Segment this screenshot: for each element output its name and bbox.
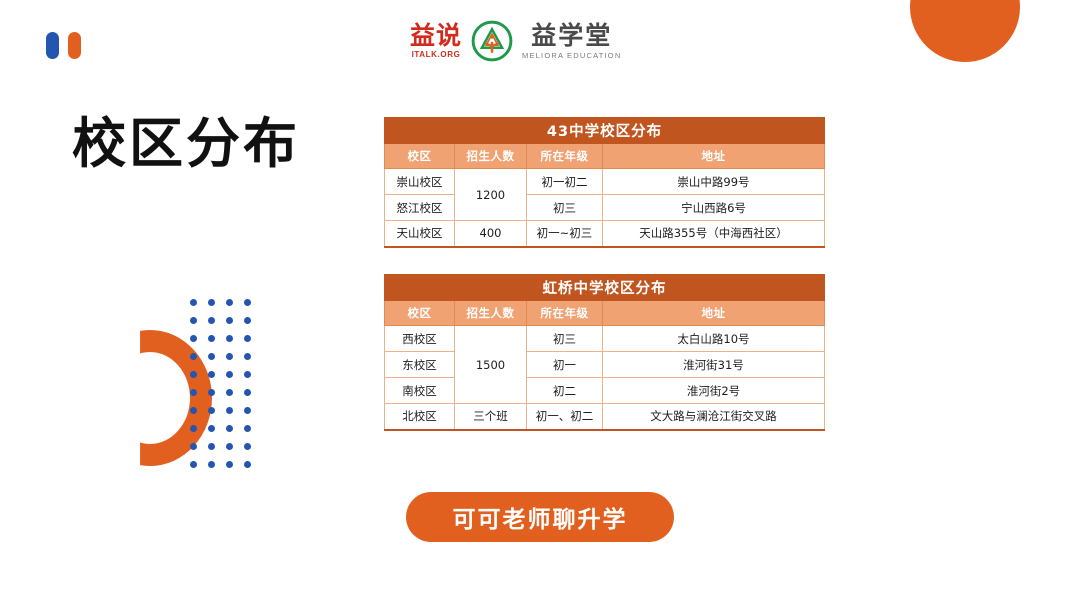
grid-dot — [244, 317, 251, 324]
grid-dot — [208, 299, 215, 306]
cell-campus: 天山校区 — [385, 221, 455, 247]
grid-dot — [208, 371, 215, 378]
grid-dot — [208, 353, 215, 360]
table-row: 天山校区400初一~初三天山路355号（中海西社区） — [385, 221, 825, 247]
column-header-address: 地址 — [603, 301, 825, 326]
meliora-logo-cn: 益学堂 — [531, 23, 612, 48]
meliora-logo-en: MELIORA EDUCATION — [522, 52, 621, 60]
table-title-row: 43中学校区分布 — [385, 118, 825, 144]
grid-dot — [226, 443, 233, 450]
cell-grade: 初一、初二 — [527, 404, 603, 430]
grid-dot — [208, 425, 215, 432]
table-row: 西校区1500初三太白山路10号 — [385, 326, 825, 352]
cell-campus: 西校区 — [385, 326, 455, 352]
grid-dot — [208, 443, 215, 450]
campus-table-2: 虹桥中学校区分布 校区 招生人数 所在年级 地址 西校区1500初三太白山路10… — [384, 274, 825, 431]
grid-dot — [226, 425, 233, 432]
grid-dot — [226, 371, 233, 378]
grid-dot — [208, 461, 215, 468]
cell-address: 天山路355号（中海西社区） — [603, 221, 825, 247]
grid-dot — [208, 317, 215, 324]
cell-grade: 初三 — [527, 195, 603, 221]
cell-address: 文大路与澜沧江街交叉路 — [603, 404, 825, 430]
table-row: 崇山校区1200初一初二崇山中路99号 — [385, 169, 825, 195]
column-header-grade: 所在年级 — [527, 301, 603, 326]
slide-canvas: 益说 ITALK.ORG 益学堂 MELIORA EDUCATION 校区分布 … — [0, 0, 1080, 604]
campus-table-1: 43中学校区分布 校区 招生人数 所在年级 地址 崇山校区1200初一初二崇山中… — [384, 117, 825, 248]
grid-dot — [226, 461, 233, 468]
grid-dot — [190, 461, 197, 468]
cell-enrollment: 400 — [455, 221, 527, 247]
grid-dot — [226, 407, 233, 414]
cell-campus: 怒江校区 — [385, 195, 455, 221]
cell-grade: 初三 — [527, 326, 603, 352]
grid-dot — [244, 443, 251, 450]
grid-dot — [226, 353, 233, 360]
table-row: 南校区初二淮河街2号 — [385, 378, 825, 404]
cell-enrollment: 1500 — [455, 326, 527, 404]
grid-dot — [208, 407, 215, 414]
grid-dot — [190, 389, 197, 396]
table-title: 虹桥中学校区分布 — [385, 275, 825, 301]
cell-enrollment: 三个班 — [455, 404, 527, 430]
cell-address: 淮河街2号 — [603, 378, 825, 404]
grid-dot — [226, 389, 233, 396]
campus-table-1-container: 43中学校区分布 校区 招生人数 所在年级 地址 崇山校区1200初一初二崇山中… — [384, 117, 824, 248]
cell-campus: 北校区 — [385, 404, 455, 430]
table-row: 北校区三个班初一、初二文大路与澜沧江街交叉路 — [385, 404, 825, 430]
table-row: 东校区初一淮河街31号 — [385, 352, 825, 378]
grid-dot — [244, 461, 251, 468]
table-body: 西校区1500初三太白山路10号东校区初一淮河街31号南校区初二淮河街2号北校区… — [385, 326, 825, 430]
grid-dot — [190, 407, 197, 414]
grid-dot — [244, 299, 251, 306]
grid-dot — [244, 353, 251, 360]
cell-enrollment: 1200 — [455, 169, 527, 221]
grid-dot — [244, 389, 251, 396]
orange-pill-decoration — [68, 32, 81, 59]
cell-campus: 南校区 — [385, 378, 455, 404]
blue-pill-decoration — [46, 32, 59, 59]
table-header-row: 校区 招生人数 所在年级 地址 — [385, 144, 825, 169]
grid-dot — [190, 335, 197, 342]
table-title-row: 虹桥中学校区分布 — [385, 275, 825, 301]
grid-dot — [244, 425, 251, 432]
cell-grade: 初一 — [527, 352, 603, 378]
orange-corner-circle-decoration — [910, 0, 1020, 62]
grid-dot — [190, 425, 197, 432]
column-header-address: 地址 — [603, 144, 825, 169]
column-header-campus: 校区 — [385, 301, 455, 326]
meliora-logo: 益学堂 MELIORA EDUCATION — [522, 23, 621, 60]
column-header-campus: 校区 — [385, 144, 455, 169]
table-body: 崇山校区1200初一初二崇山中路99号怒江校区初三宁山西路6号天山校区400初一… — [385, 169, 825, 247]
grid-dot — [208, 335, 215, 342]
cell-grade: 初二 — [527, 378, 603, 404]
page-title: 校区分布 — [72, 110, 300, 178]
grid-dot — [190, 317, 197, 324]
grid-dot — [190, 299, 197, 306]
cell-campus: 崇山校区 — [385, 169, 455, 195]
cell-address: 淮河街31号 — [603, 352, 825, 378]
cell-grade: 初一初二 — [527, 169, 603, 195]
cell-address: 太白山路10号 — [603, 326, 825, 352]
italk-logo: 益说 ITALK.ORG — [410, 23, 462, 59]
column-header-enroll: 招生人数 — [455, 144, 527, 169]
grid-dot — [244, 335, 251, 342]
blue-dot-grid-decoration — [184, 294, 256, 474]
grid-dot — [244, 371, 251, 378]
grid-dot — [226, 317, 233, 324]
brand-logo: 益说 ITALK.ORG 益学堂 MELIORA EDUCATION — [410, 18, 621, 64]
cta-button[interactable]: 可可老师聊升学 — [406, 492, 674, 542]
grid-dot — [190, 371, 197, 378]
cell-grade: 初一~初三 — [527, 221, 603, 247]
campus-table-2-container: 虹桥中学校区分布 校区 招生人数 所在年级 地址 西校区1500初三太白山路10… — [384, 274, 824, 431]
grid-dot — [244, 407, 251, 414]
cell-campus: 东校区 — [385, 352, 455, 378]
table-header-row: 校区 招生人数 所在年级 地址 — [385, 301, 825, 326]
column-header-enroll: 招生人数 — [455, 301, 527, 326]
tree-circle-emblem-icon — [471, 20, 513, 62]
table-title: 43中学校区分布 — [385, 118, 825, 144]
grid-dot — [190, 353, 197, 360]
italk-logo-cn: 益说 — [410, 23, 462, 48]
grid-dot — [190, 443, 197, 450]
grid-dot — [226, 299, 233, 306]
grid-dot — [226, 335, 233, 342]
italk-logo-en: ITALK.ORG — [412, 51, 461, 59]
table-row: 怒江校区初三宁山西路6号 — [385, 195, 825, 221]
cell-address: 宁山西路6号 — [603, 195, 825, 221]
grid-dot — [208, 389, 215, 396]
column-header-grade: 所在年级 — [527, 144, 603, 169]
cell-address: 崇山中路99号 — [603, 169, 825, 195]
